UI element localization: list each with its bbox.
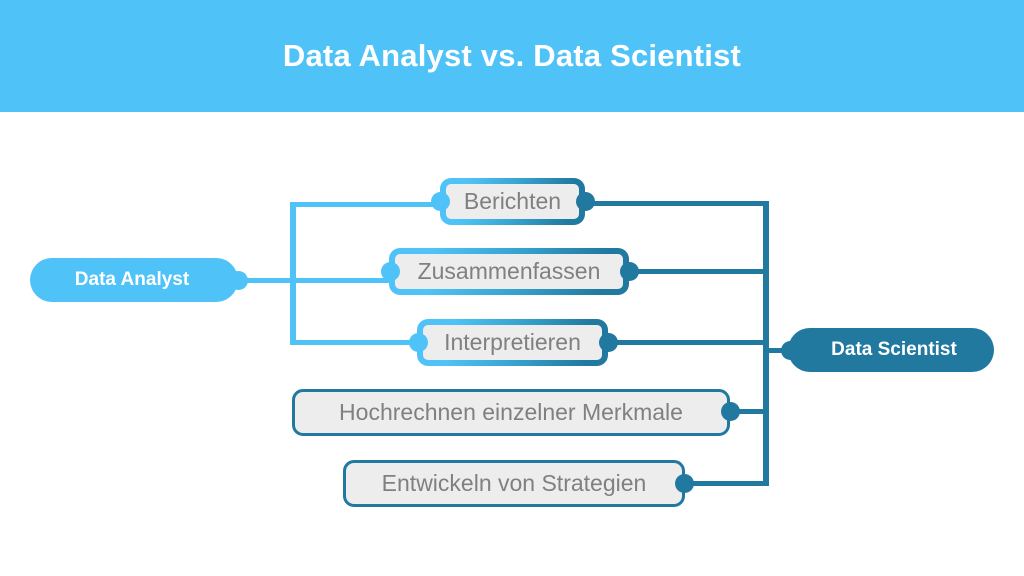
connector-analyst-to-berichten: [290, 202, 450, 207]
connector-scientist-to-berichten: [576, 201, 768, 206]
node-data-scientist-label: Data Scientist: [831, 339, 957, 361]
skill-label-berichten: Berichten: [446, 184, 579, 219]
dot-entwickeln-right: [675, 474, 694, 493]
dot-analyst-right: [229, 271, 248, 290]
skill-label-interpretieren: Interpretieren: [423, 325, 602, 360]
skill-box-interpretieren[interactable]: Interpretieren: [417, 319, 608, 366]
dot-hochrechnen-right: [721, 402, 740, 421]
page-title: Data Analyst vs. Data Scientist: [0, 0, 1024, 112]
skill-label-hochrechnen: Hochrechnen einzelner Merkmale: [295, 392, 727, 433]
dot-interpretieren-left: [409, 333, 428, 352]
dot-interpretieren-right: [599, 333, 618, 352]
diagram-canvas: Data Analyst Data Scientist Berichten Zu…: [0, 112, 1024, 576]
connector-scientist-to-interpretieren: [607, 340, 768, 345]
node-data-analyst-label: Data Analyst: [75, 269, 189, 291]
connector-analyst-trunk: [290, 202, 296, 342]
dot-zusammenfassen-left: [381, 262, 400, 281]
skill-box-zusammenfassen[interactable]: Zusammenfassen: [389, 248, 629, 295]
dot-zusammenfassen-right: [620, 262, 639, 281]
dot-berichten-right: [576, 192, 595, 211]
skill-box-hochrechnen[interactable]: Hochrechnen einzelner Merkmale: [292, 389, 730, 436]
connector-analyst-to-interpretieren: [290, 340, 420, 345]
skill-label-zusammenfassen: Zusammenfassen: [395, 254, 623, 289]
diagram-page: Data Analyst vs. Data Scientist Data Ana…: [0, 0, 1024, 576]
skill-label-entwickeln: Entwickeln von Strategien: [346, 463, 682, 504]
dot-scientist-left: [781, 341, 800, 360]
skill-box-entwickeln[interactable]: Entwickeln von Strategien: [343, 460, 685, 507]
node-data-analyst[interactable]: Data Analyst: [30, 258, 238, 302]
node-data-scientist[interactable]: Data Scientist: [788, 328, 994, 372]
connector-scientist-to-zusammenfassen: [620, 269, 768, 274]
skill-box-berichten[interactable]: Berichten: [440, 178, 585, 225]
dot-berichten-left: [431, 192, 450, 211]
